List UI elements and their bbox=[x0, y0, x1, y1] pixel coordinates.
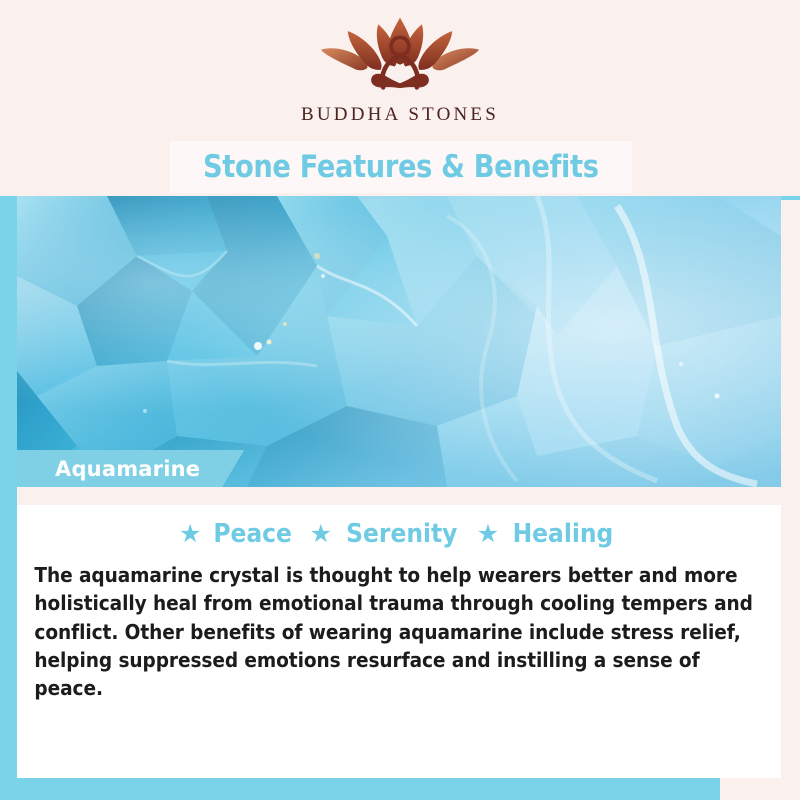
stone-name-label: Aquamarine bbox=[55, 457, 200, 481]
content-panel: ★ Peace ★ Serenity ★ Healing The aquamar… bbox=[17, 505, 781, 778]
star-icon: ★ bbox=[477, 522, 499, 547]
star-icon: ★ bbox=[310, 522, 332, 547]
keyword-item-serenity: ★ Serenity bbox=[310, 519, 464, 549]
description-text: The aquamarine crystal is thought to hel… bbox=[29, 561, 766, 702]
decor-band-left bbox=[0, 196, 17, 778]
stone-name-tag: Aquamarine bbox=[17, 450, 244, 487]
keyword-label: Healing bbox=[513, 519, 614, 549]
keyword-label: Peace bbox=[214, 519, 293, 549]
infographic-page: BUDDHA STONES Stone Features & Benefits bbox=[0, 0, 800, 800]
keyword-item-healing: ★ Healing bbox=[477, 519, 619, 549]
keyword-item-peace: ★ Peace bbox=[179, 519, 297, 549]
keyword-label: Serenity bbox=[346, 519, 457, 549]
brand-name: BUDDHA STONES bbox=[301, 104, 499, 126]
title-banner: Stone Features & Benefits bbox=[170, 141, 632, 193]
aquamarine-crystal-photo bbox=[17, 196, 781, 487]
keyword-list: ★ Peace ★ Serenity ★ Healing bbox=[29, 519, 769, 549]
star-icon: ★ bbox=[179, 522, 201, 547]
page-title: Stone Features & Benefits bbox=[203, 149, 599, 185]
lotus-meditation-icon bbox=[316, 16, 484, 100]
brand-logo: BUDDHA STONES bbox=[0, 16, 800, 126]
decor-band-bottom bbox=[0, 778, 720, 800]
crystal-texture bbox=[17, 196, 781, 487]
